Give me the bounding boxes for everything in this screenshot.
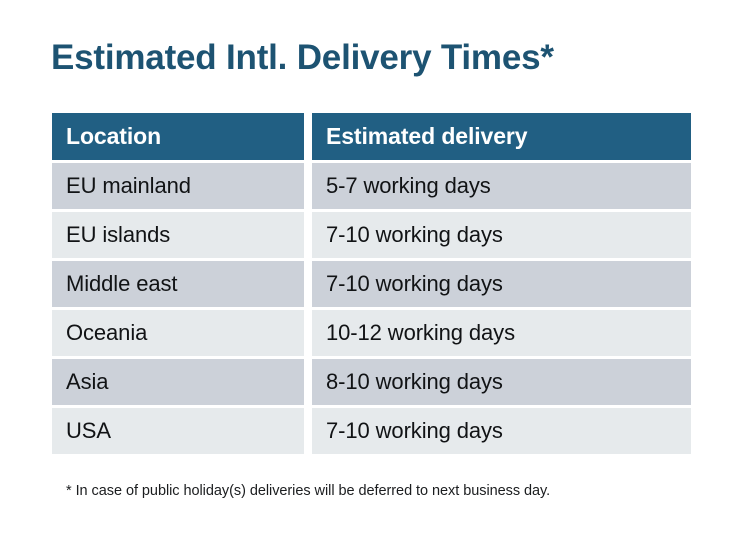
table-row: EU islands 7-10 working days bbox=[52, 212, 691, 261]
page-title: Estimated Intl. Delivery Times* bbox=[51, 36, 711, 80]
cell-location: USA bbox=[52, 408, 312, 457]
table-body: EU mainland 5-7 working days EU islands … bbox=[52, 163, 691, 457]
cell-location: Asia bbox=[52, 359, 312, 408]
cell-estimated-delivery: 7-10 working days bbox=[312, 212, 691, 261]
delivery-times-table: Location Estimated delivery EU mainland … bbox=[52, 113, 691, 457]
table-row: USA 7-10 working days bbox=[52, 408, 691, 457]
table-row: Asia 8-10 working days bbox=[52, 359, 691, 408]
cell-estimated-delivery: 8-10 working days bbox=[312, 359, 691, 408]
cell-location: EU mainland bbox=[52, 163, 312, 212]
table-row: Oceania 10-12 working days bbox=[52, 310, 691, 359]
column-header-location: Location bbox=[52, 113, 312, 163]
cell-location: EU islands bbox=[52, 212, 312, 261]
footnote: * In case of public holiday(s) deliverie… bbox=[66, 481, 706, 501]
table-row: EU mainland 5-7 working days bbox=[52, 163, 691, 212]
column-header-estimated-delivery: Estimated delivery bbox=[312, 113, 691, 163]
cell-estimated-delivery: 10-12 working days bbox=[312, 310, 691, 359]
cell-location: Oceania bbox=[52, 310, 312, 359]
table-row: Middle east 7-10 working days bbox=[52, 261, 691, 310]
table-header: Location Estimated delivery bbox=[52, 113, 691, 163]
delivery-times-page: Estimated Intl. Delivery Times* Location… bbox=[0, 0, 745, 536]
cell-estimated-delivery: 7-10 working days bbox=[312, 261, 691, 310]
cell-location: Middle east bbox=[52, 261, 312, 310]
cell-estimated-delivery: 7-10 working days bbox=[312, 408, 691, 457]
table-header-row: Location Estimated delivery bbox=[52, 113, 691, 163]
cell-estimated-delivery: 5-7 working days bbox=[312, 163, 691, 212]
